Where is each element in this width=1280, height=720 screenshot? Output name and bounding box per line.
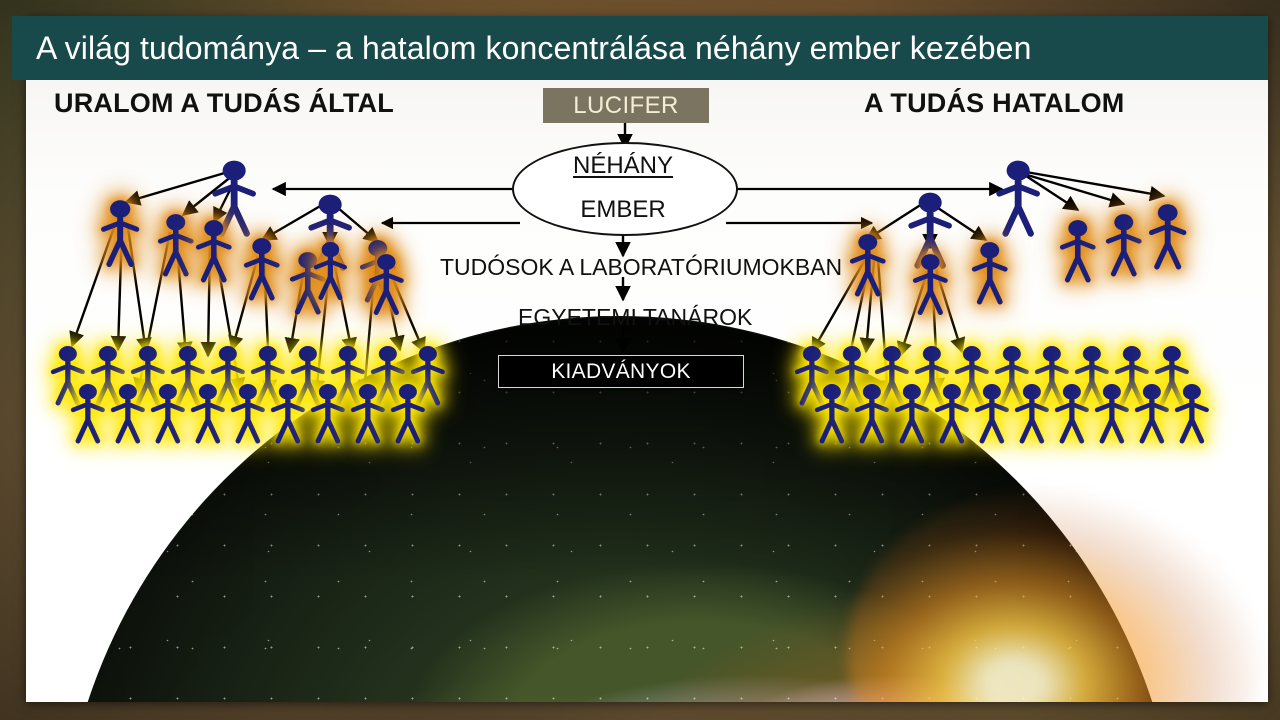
page-title: A világ tudománya – a hatalom koncentrál…	[12, 30, 1031, 67]
chain-label-scientists: TUDÓSOK A LABORATÓRIUMOKBAN	[440, 254, 842, 281]
person-base	[189, 382, 227, 444]
publications-label: KIADVÁNYOK	[551, 360, 691, 384]
ellipse-line-1: NÉHÁNY	[512, 152, 734, 180]
person-mid	[848, 232, 888, 297]
person-base	[1053, 382, 1091, 444]
person-base	[309, 382, 347, 444]
person-base	[269, 382, 307, 444]
person-base	[933, 382, 971, 444]
person-base	[813, 382, 851, 444]
person-base	[229, 382, 267, 444]
heading-left: URALOM A TUDÁS ÁLTAL	[54, 88, 394, 119]
person-elite	[994, 158, 1042, 238]
slide-title-bar: A világ tudománya – a hatalom koncentrál…	[12, 16, 1268, 80]
person-base	[69, 382, 107, 444]
person-mid	[242, 236, 282, 301]
person-mid	[1104, 212, 1144, 277]
person-mid	[970, 240, 1010, 305]
person-base	[389, 382, 427, 444]
person-base	[973, 382, 1011, 444]
person-base	[349, 382, 387, 444]
person-base	[109, 382, 147, 444]
person-mid	[194, 218, 234, 283]
person-base	[1013, 382, 1051, 444]
person-mid	[1147, 202, 1188, 270]
person-base	[1093, 382, 1131, 444]
person-base	[149, 382, 187, 444]
person-base	[893, 382, 931, 444]
slide-canvas: A világ tudománya – a hatalom koncentrál…	[0, 0, 1280, 720]
person-base	[1133, 382, 1171, 444]
person-mid	[312, 240, 349, 301]
person-base	[853, 382, 891, 444]
chain-label-professors: EGYETEMI TANÁROK	[518, 304, 752, 331]
publications-box: KIADVÁNYOK	[498, 355, 744, 388]
person-mid	[99, 198, 141, 268]
person-mid	[911, 252, 950, 316]
person-base	[1173, 382, 1211, 444]
lucifer-box: LUCIFER	[543, 88, 709, 123]
person-mid	[367, 252, 406, 316]
person-mid	[1058, 218, 1098, 283]
ellipse-line-2: EMBER	[512, 196, 734, 224]
lucifer-label: LUCIFER	[573, 92, 678, 120]
heading-right: A TUDÁS HATALOM	[864, 88, 1124, 119]
person-mid	[156, 212, 196, 277]
